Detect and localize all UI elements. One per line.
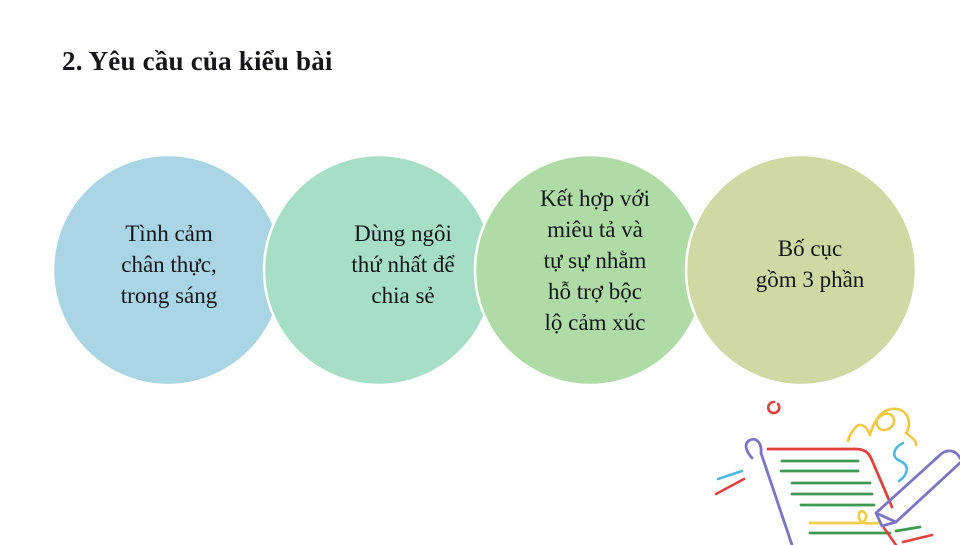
paper-curl-purple [746, 439, 792, 545]
slide-canvas: 2. Yêu cầu của kiểu bài Tình cảm chân th… [0, 0, 960, 545]
writing-document-illustration [700, 395, 960, 545]
yellow-squiggle-end-icon [906, 433, 916, 445]
venn-circle-2[interactable] [264, 155, 494, 385]
accent-line-red-right-2 [903, 535, 932, 542]
venn-circle-4[interactable] [686, 155, 916, 385]
paper-edge-red [768, 449, 892, 507]
yellow-underline-loop [810, 511, 878, 523]
venn-circle-3[interactable] [475, 155, 705, 385]
red-circle-accent-icon [768, 402, 779, 413]
yellow-squiggle-tail-icon [848, 425, 870, 441]
accent-stroke-red [716, 479, 744, 494]
yellow-squiggle-icon [870, 409, 909, 435]
accent-stroke-blue [718, 471, 742, 479]
blue-curve-icon [894, 443, 906, 481]
accent-line-red-right [884, 528, 896, 545]
accent-line-green-right [896, 527, 920, 531]
pen-icon [876, 451, 960, 526]
venn-circle-1[interactable] [53, 155, 283, 385]
